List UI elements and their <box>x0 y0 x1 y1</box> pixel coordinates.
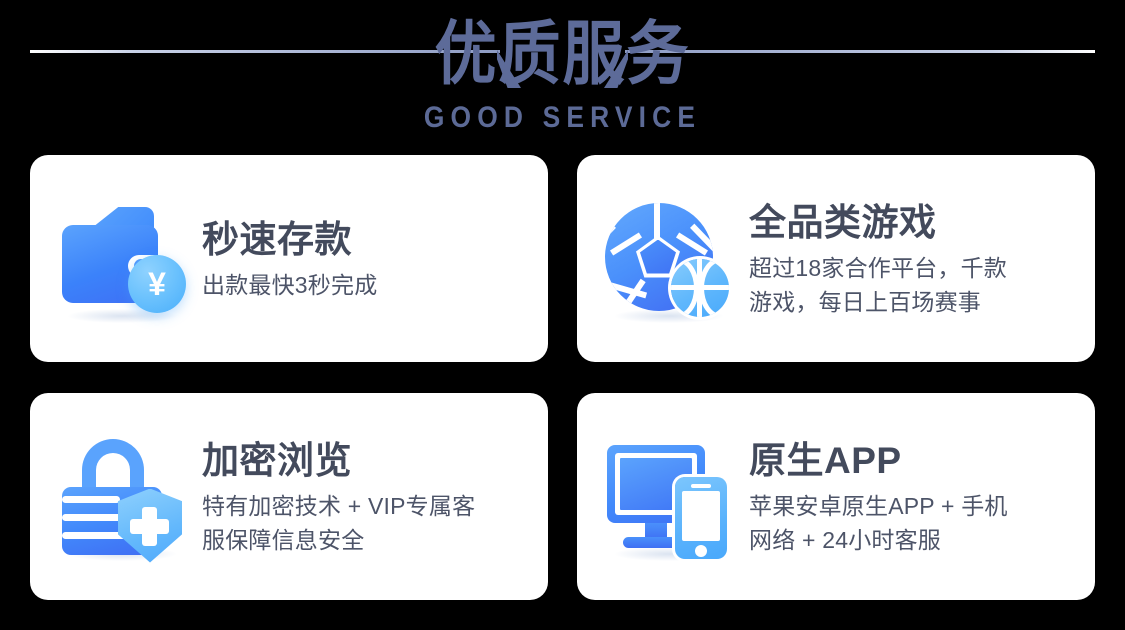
banner-header: 优质服务 GOOD SERVICE <box>0 0 1125 150</box>
page-subtitle: GOOD SERVICE <box>68 100 1058 136</box>
phone-speaker <box>691 484 711 488</box>
feature-card-text: 原生APP 苹果安卓原生APP + 手机 网络 + 24小时客服 <box>749 437 1077 557</box>
feature-card-encryption[interactable]: 加密浏览 特有加密技术 + VIP专属客 服保障信息安全 <box>30 393 548 600</box>
feature-card-title: 全品类游戏 <box>749 199 1077 247</box>
ball-seam <box>654 203 660 239</box>
monitor-phone-icon <box>603 431 735 563</box>
phone-home-button <box>695 545 707 557</box>
feature-card-title: 加密浏览 <box>202 437 530 485</box>
promo-banner: 优质服务 GOOD SERVICE ¥ 秒速存款 出款最快3秒完成 <box>0 0 1125 630</box>
basketball-curve <box>671 259 699 317</box>
feature-card-grid: ¥ 秒速存款 出款最快3秒完成 <box>30 155 1095 600</box>
plus-icon <box>130 519 169 534</box>
feature-card-title: 原生APP <box>749 437 1077 485</box>
subtitle-line: 服保障信息安全 <box>202 523 530 557</box>
feature-card-subtitle: 特有加密技术 + VIP专属客 服保障信息安全 <box>202 489 530 557</box>
feature-card-text: 全品类游戏 超过18家合作平台，千款 游戏，每日上百场赛事 <box>749 199 1077 319</box>
feature-card-text: 秒速存款 出款最快3秒完成 <box>202 216 530 302</box>
feature-card-native-app[interactable]: 原生APP 苹果安卓原生APP + 手机 网络 + 24小时客服 <box>577 393 1095 600</box>
subtitle-line: 特有加密技术 + VIP专属客 <box>202 489 530 523</box>
phone-screen <box>682 491 720 541</box>
lock-stripe <box>62 496 120 503</box>
subtitle-line: 游戏，每日上百场赛事 <box>749 285 1077 319</box>
subtitle-line: 超过18家合作平台，千款 <box>749 251 1077 285</box>
subtitle-line: 网络 + 24小时客服 <box>749 523 1077 557</box>
lock-shield-icon <box>56 431 188 563</box>
feature-card-subtitle: 超过18家合作平台，千款 游戏，每日上百场赛事 <box>749 251 1077 319</box>
soccer-basketball-icon <box>603 193 735 325</box>
feature-card-subtitle: 苹果安卓原生APP + 手机 网络 + 24小时客服 <box>749 489 1077 557</box>
feature-card-deposit[interactable]: ¥ 秒速存款 出款最快3秒完成 <box>30 155 548 362</box>
yen-coin-icon: ¥ <box>128 255 186 313</box>
basketball-icon <box>671 259 729 317</box>
subtitle-line: 苹果安卓原生APP + 手机 <box>749 489 1077 523</box>
page-title: 优质服务 <box>0 8 1125 102</box>
subtitle-line: 出款最快3秒完成 <box>202 268 530 302</box>
feature-card-subtitle: 出款最快3秒完成 <box>202 268 530 302</box>
basketball-curve <box>699 259 729 317</box>
wallet-yen-icon: ¥ <box>56 193 188 325</box>
feature-card-games[interactable]: 全品类游戏 超过18家合作平台，千款 游戏，每日上百场赛事 <box>577 155 1095 362</box>
feature-card-title: 秒速存款 <box>202 216 530 264</box>
feature-card-text: 加密浏览 特有加密技术 + VIP专属客 服保障信息安全 <box>202 437 530 557</box>
